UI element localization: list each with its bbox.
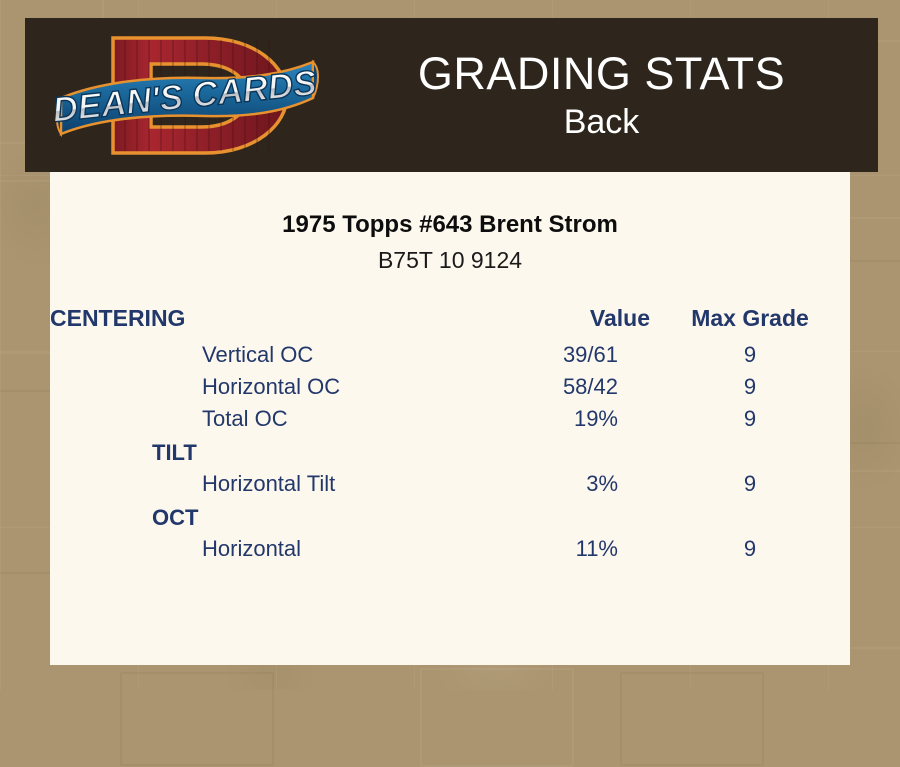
row-max-grade: 9 xyxy=(650,403,850,435)
table-row: Horizontal OC 58/42 9 xyxy=(50,371,850,403)
page-subtitle: Back xyxy=(564,102,640,142)
section-label: TILT xyxy=(50,435,850,468)
column-header-max-grade: Max Grade xyxy=(650,303,850,339)
row-value: 19% xyxy=(430,403,650,435)
content-panel: 1975 Topps #643 Brent Strom B75T 10 9124… xyxy=(50,172,850,665)
section-header-tilt: TILT xyxy=(50,435,850,468)
column-header-centering: CENTERING xyxy=(50,303,430,339)
table-row: Total OC 19% 9 xyxy=(50,403,850,435)
header-bar: DEAN'S CARDS GRADING STATS Back xyxy=(25,18,878,172)
section-label: OCT xyxy=(50,500,850,533)
row-value: 3% xyxy=(430,468,650,500)
table-row: Vertical OC 39/61 9 xyxy=(50,339,850,371)
row-label: Horizontal OC xyxy=(50,371,430,403)
column-header-value: Value xyxy=(430,303,650,339)
row-label: Vertical OC xyxy=(50,339,430,371)
header-titles: GRADING STATS Back xyxy=(325,18,878,172)
row-max-grade: 9 xyxy=(650,533,850,565)
background-watermark xyxy=(620,672,764,766)
row-max-grade: 9 xyxy=(650,371,850,403)
row-value: 39/61 xyxy=(430,339,650,371)
row-label: Total OC xyxy=(50,403,430,435)
table-row: Horizontal Tilt 3% 9 xyxy=(50,468,850,500)
background-watermark xyxy=(120,672,274,766)
background-watermark xyxy=(420,668,574,767)
grading-stats-table: CENTERING Value Max Grade Vertical OC 39… xyxy=(50,303,850,565)
table-header-row: CENTERING Value Max Grade xyxy=(50,303,850,339)
row-label: Horizontal Tilt xyxy=(50,468,430,500)
card-title: 1975 Topps #643 Brent Strom xyxy=(50,210,850,240)
row-value: 58/42 xyxy=(430,371,650,403)
row-label: Horizontal xyxy=(50,533,430,565)
card-identifier: B75T 10 9124 xyxy=(50,246,850,275)
row-max-grade: 9 xyxy=(650,468,850,500)
table-row: Horizontal 11% 9 xyxy=(50,533,850,565)
row-max-grade: 9 xyxy=(650,339,850,371)
row-value: 11% xyxy=(430,533,650,565)
deans-cards-logo[interactable]: DEAN'S CARDS xyxy=(55,24,320,167)
page-title: GRADING STATS xyxy=(418,48,785,100)
section-header-oct: OCT xyxy=(50,500,850,533)
